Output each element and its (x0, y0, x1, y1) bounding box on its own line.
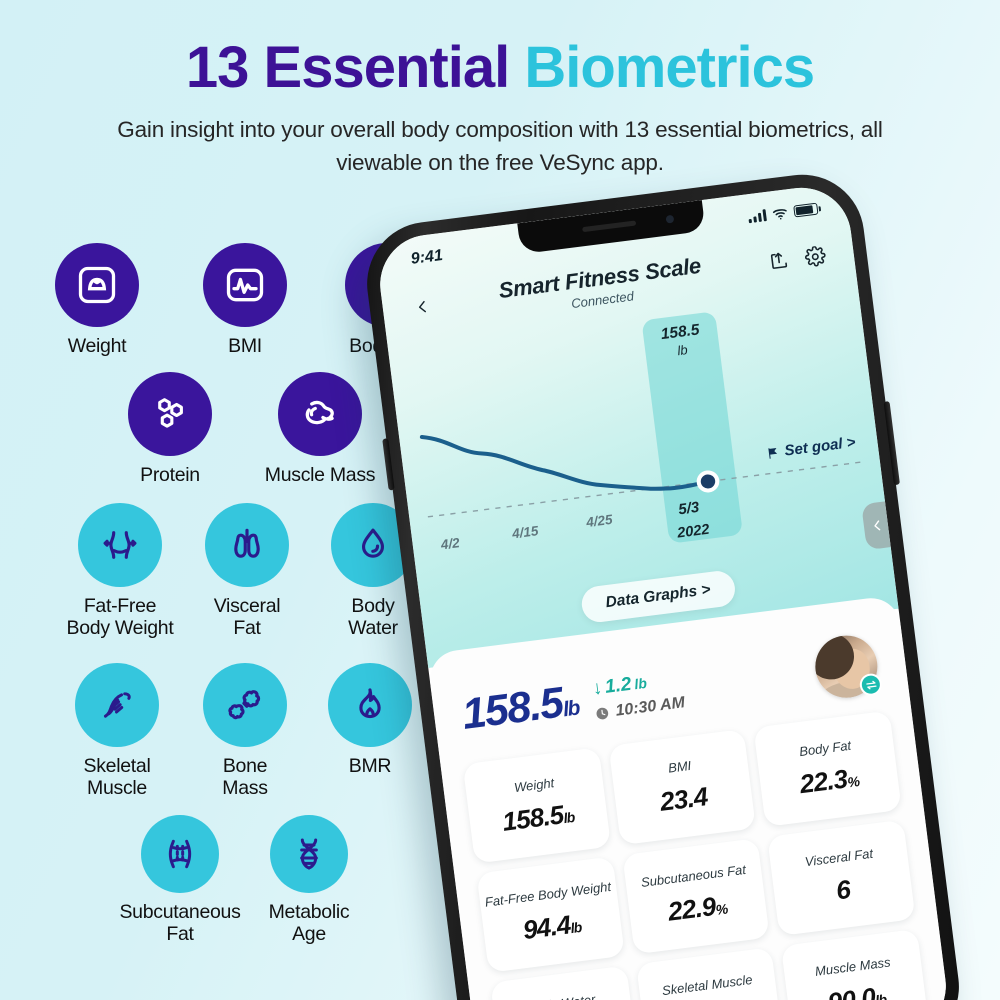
front-camera (665, 215, 674, 224)
scale-icon (75, 263, 119, 307)
subcutaneous-fat-circle (141, 815, 219, 893)
battery-icon (793, 203, 818, 218)
metric-cards-grid: Weight 158.5lb BMI 23.4 Body Fat 22.3% F… (463, 711, 944, 1000)
water-drop-icon (352, 524, 394, 566)
metric-card[interactable]: Body Water 51.5% (490, 966, 638, 1000)
power-button[interactable] (884, 401, 900, 485)
current-weight-unit: lb (562, 696, 581, 721)
metric-card[interactable]: Fat-Free Body Weight 94.4lb (476, 856, 624, 972)
page-title-part-2: Biometrics (524, 35, 814, 100)
swap-user-icon (864, 677, 879, 692)
page-title-part-1: 13 Essential (186, 35, 524, 100)
metric-card-value: 94.4lb (521, 908, 583, 946)
metric-card-label: Body Fat (798, 738, 852, 760)
muscle-fiber-icon (96, 684, 138, 726)
gear-icon (803, 245, 826, 268)
metric-card-value: 23.4 (658, 781, 709, 818)
bone-joint-icon (224, 684, 266, 726)
metric-card-value: 22.9% (666, 889, 728, 927)
metric-card[interactable]: Body Fat 22.3% (754, 711, 902, 827)
biometric-item-weight: Weight (12, 243, 182, 357)
biometric-item-protein: Protein (85, 372, 255, 486)
metric-card-label: Weight (513, 775, 555, 796)
bmi-circle (203, 243, 287, 327)
biometric-label: Metabolic Age (224, 901, 394, 945)
flag-icon (765, 445, 781, 461)
bmr-circle (328, 663, 412, 747)
protein-circle (128, 372, 212, 456)
bone-mass-circle (203, 663, 287, 747)
metric-card-label: Fat-Free Body Weight (484, 879, 612, 910)
phone-screen: 158.5 lb 4/2 4/15 4/25 5/3 2022 S (374, 182, 951, 1000)
molecule-icon (148, 392, 192, 436)
metric-card[interactable]: BMI 23.4 (608, 729, 756, 845)
weight-delta-box: ↓ 1.2 lb 10:30 AM (591, 646, 819, 723)
metrics-panel: 158.5lb ↓ 1.2 lb 10 (427, 595, 952, 1000)
metric-card-label: BMI (667, 758, 692, 776)
flexed-arm-icon (298, 392, 342, 436)
fat-free-body-weight-circle (78, 503, 162, 587)
biometric-label: Muscle Mass (235, 464, 405, 486)
current-weight-value: 158.5 (459, 678, 565, 738)
phone-mockup: 158.5 lb 4/2 4/15 4/25 5/3 2022 S (360, 167, 966, 1000)
skeletal-muscle-circle (75, 663, 159, 747)
metric-card-label: Visceral Fat (804, 846, 874, 870)
signal-bars-icon (748, 209, 767, 223)
metric-card[interactable]: Visceral Fat 6 (767, 820, 915, 936)
chart-line-svg (390, 309, 892, 616)
metric-card-value: 158.5lb (501, 798, 576, 838)
biometric-label: Protein (85, 464, 255, 486)
delta-unit: lb (633, 674, 647, 691)
avatar-wrapper[interactable] (812, 632, 881, 701)
waist-icon (99, 524, 141, 566)
metric-card-value: 90.0lb (826, 980, 888, 1000)
visceral-fat-circle (205, 503, 289, 587)
page-subtitle: Gain insight into your overall body comp… (110, 113, 890, 180)
chevron-left-icon (413, 295, 431, 319)
metric-card-label: Muscle Mass (814, 955, 891, 980)
metric-card-value: 22.3% (798, 762, 860, 800)
status-bar-time: 9:41 (410, 247, 444, 269)
metric-card-value: 6 (834, 874, 851, 906)
biometric-label: Weight (12, 335, 182, 357)
chart-current-point (698, 471, 719, 491)
collapse-panel-chevron-icon (870, 517, 885, 535)
organs-icon (226, 524, 268, 566)
metric-card-label: Subcutaneous Fat (640, 862, 747, 891)
earpiece-speaker (582, 220, 636, 232)
chart-x-label-current: 5/3 (677, 499, 700, 518)
biometric-item-metabolic-age: Metabolic Age (224, 815, 394, 945)
share-button[interactable] (764, 239, 794, 272)
metric-card[interactable]: Weight 158.5lb (463, 747, 611, 863)
wifi-icon (771, 206, 789, 221)
bmi-chart-icon (223, 263, 267, 307)
share-icon (768, 250, 790, 272)
weight-circle (55, 243, 139, 327)
skin-layer-icon (160, 834, 200, 874)
muscle-mass-circle (278, 372, 362, 456)
back-button[interactable] (406, 284, 436, 319)
delta-value: 1.2 (604, 673, 633, 698)
current-weight: 158.5lb (459, 676, 581, 739)
metric-card-label: Skeletal Muscle (661, 972, 753, 999)
phone-body: 158.5 lb 4/2 4/15 4/25 5/3 2022 S (360, 167, 966, 1000)
dna-icon (289, 834, 329, 874)
measurement-time-label: 10:30 AM (615, 694, 686, 721)
settings-button[interactable] (799, 235, 829, 269)
metabolic-age-circle (270, 815, 348, 893)
page-title: 13 Essential Biometrics (0, 38, 1000, 99)
weight-trend-line (422, 402, 708, 519)
chart-x-label-0: 4/2 (440, 535, 461, 552)
clock-icon (595, 705, 611, 721)
metric-card[interactable]: Skeletal Muscle 43.5% (636, 947, 784, 1000)
flame-icon (349, 684, 391, 726)
metric-card-label: Body Water (527, 992, 596, 1000)
metric-card[interactable]: Subcutaneous Fat 22.9% (622, 838, 770, 954)
delta-arrow-icon: ↓ (591, 677, 603, 700)
metric-card[interactable]: Muscle Mass 90.0lb (781, 929, 929, 1000)
